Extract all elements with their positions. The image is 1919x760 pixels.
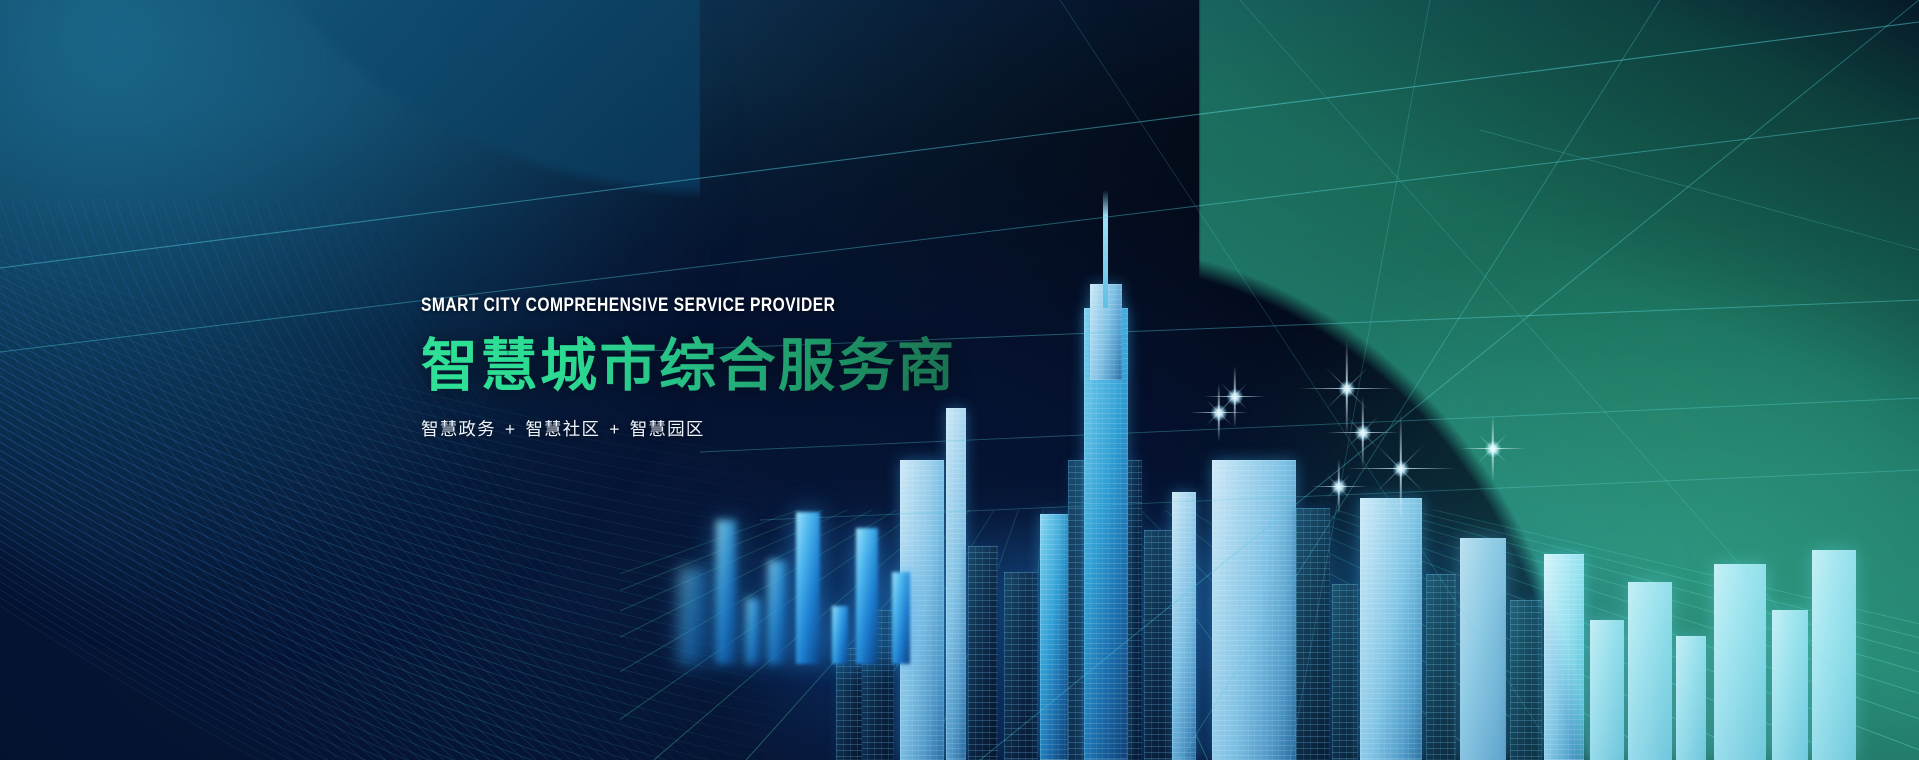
- service-item-park: 智慧园区: [630, 419, 705, 439]
- headline-copy-block: SMART CITY COMPREHENSIVE SERVICE PROVIDE…: [421, 296, 957, 441]
- service-item-community: 智慧社区: [525, 419, 600, 439]
- right-green-sweep: [1199, 0, 1919, 760]
- eyebrow-tagline: SMART CITY COMPREHENSIVE SERVICE PROVIDE…: [421, 296, 849, 316]
- plus-separator-2: +: [606, 419, 623, 439]
- page-title: 智慧城市综合服务商: [421, 335, 957, 399]
- plus-separator-1: +: [502, 419, 519, 439]
- subtitle-services: 智慧政务 + 智慧社区 + 智慧园区: [421, 416, 957, 441]
- service-item-government: 智慧政务: [421, 419, 496, 439]
- smart-city-banner: SMART CITY COMPREHENSIVE SERVICE PROVIDE…: [0, 0, 1919, 760]
